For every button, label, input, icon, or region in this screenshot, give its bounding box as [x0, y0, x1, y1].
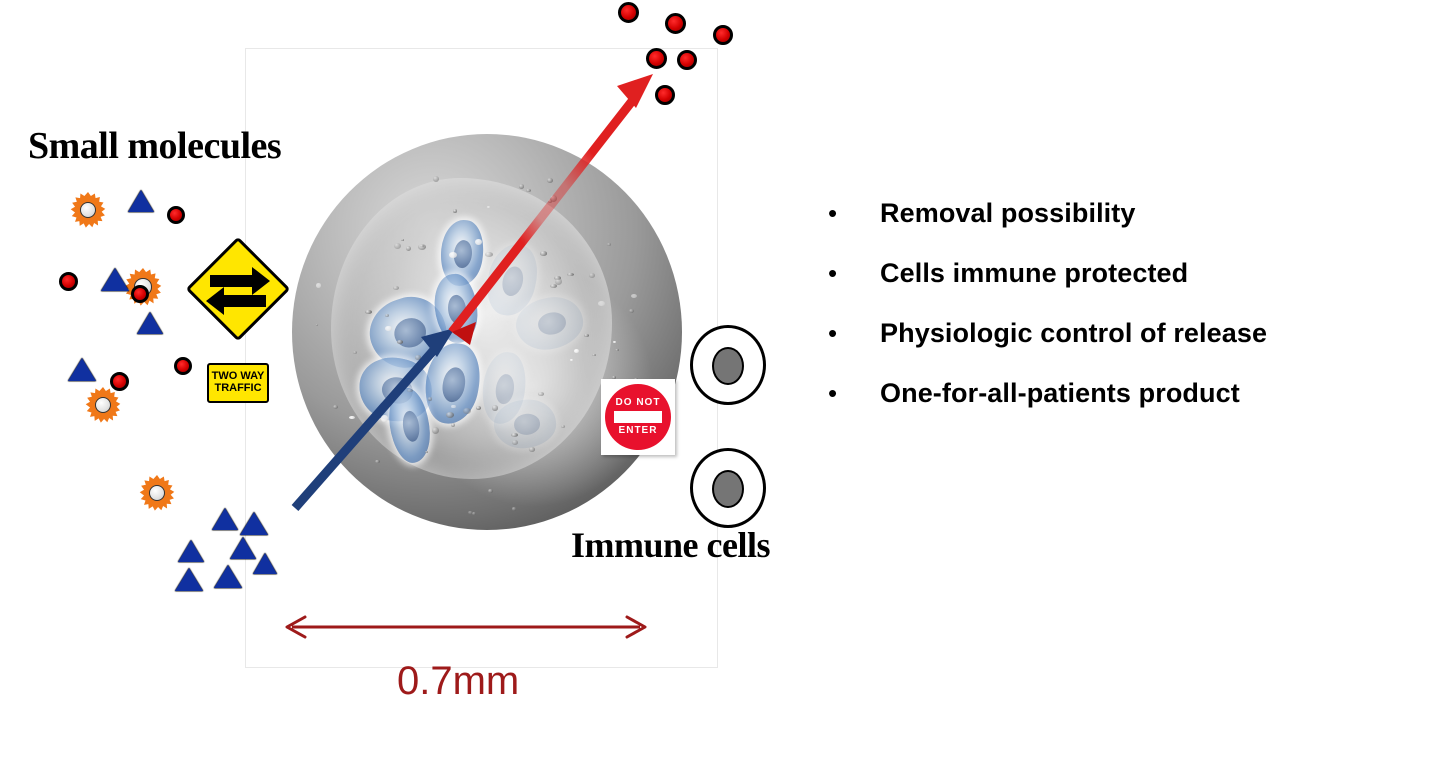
capsule-pore — [631, 294, 637, 298]
molecule-triangle-icon — [253, 553, 277, 574]
bullet-item: •Cells immune protected — [820, 258, 1400, 318]
immune-cell-nucleus — [712, 470, 744, 508]
immune-cell-nucleus — [712, 347, 744, 385]
capsule-pore — [540, 251, 547, 255]
do-not-enter-line-1: DO NOT — [616, 398, 661, 408]
cell-nucleus — [494, 373, 516, 405]
capsule-pore — [589, 273, 595, 278]
plaque-line-2: TRAFFIC — [214, 383, 261, 395]
capsule-pore — [365, 420, 370, 424]
capsule-pore — [453, 209, 458, 213]
capsule-pore — [550, 195, 557, 201]
molecule-triangle-icon — [68, 358, 96, 381]
capsule-pore — [574, 349, 579, 353]
molecule-dot-icon — [110, 372, 129, 391]
molecule-starburst-icon — [70, 192, 106, 228]
bullet-marker-icon: • — [820, 260, 880, 286]
capsule-pore — [375, 460, 380, 463]
molecule-starburst-icon — [139, 475, 175, 511]
capsule-pore — [492, 405, 499, 411]
molecule-triangle-icon — [240, 512, 268, 535]
capsule-pore — [333, 405, 338, 409]
capsule-pore — [567, 273, 574, 277]
capsule-pore — [449, 252, 457, 259]
capsule-pore — [555, 278, 562, 285]
capsule-pore — [547, 178, 553, 183]
molecule-triangle-icon — [178, 540, 204, 562]
molecule-dot-icon — [618, 2, 639, 23]
capsule-pore — [485, 252, 493, 257]
molecule-triangle-icon — [212, 508, 238, 530]
capsule-pore — [381, 415, 388, 421]
molecule-triangle-icon — [101, 268, 129, 291]
diagram-canvas: TWO WAY TRAFFIC DO NOT ENTER Small molec… — [0, 0, 1446, 769]
capsule-pore — [415, 355, 421, 360]
molecule-triangle-icon — [214, 565, 242, 588]
do-not-enter-circle: DO NOT ENTER — [605, 384, 671, 450]
bullet-label: Removal possibility — [880, 198, 1135, 229]
capsule-pore — [613, 341, 617, 343]
capsule-pore — [394, 243, 401, 249]
cell-nucleus — [441, 366, 469, 403]
immune-cell-upper — [690, 325, 766, 405]
capsule-pore — [433, 176, 439, 182]
molecule-dot-icon — [677, 50, 697, 70]
capsule-pore — [401, 239, 404, 241]
do-not-enter-sign: DO NOT ENTER — [601, 379, 675, 455]
capsule-pore — [598, 301, 605, 306]
capsule-pore — [397, 340, 403, 344]
capsule-pore — [316, 324, 319, 326]
capsule-pore — [349, 416, 355, 419]
capsule-pore — [446, 412, 454, 418]
benefits-bullet-list: •Removal possibility•Cells immune protec… — [820, 198, 1400, 438]
capsule-pore — [518, 238, 525, 243]
capsule-pore — [519, 184, 525, 189]
molecule-triangle-icon — [137, 312, 163, 334]
molecule-dot-icon — [655, 85, 675, 105]
molecule-triangle-icon — [128, 190, 154, 212]
two-way-arrows-icon — [186, 237, 290, 341]
capsule-pore — [529, 447, 535, 452]
capsule-pore — [584, 334, 589, 337]
cell-nucleus — [536, 310, 568, 337]
capsule-pore — [472, 512, 476, 515]
capsule-pore — [488, 489, 493, 493]
immune-cells-label: Immune cells — [571, 524, 770, 566]
molecule-dot-icon — [59, 272, 78, 291]
do-not-enter-bar — [614, 411, 662, 423]
capsule-pore — [629, 309, 634, 313]
capsule-pore — [538, 392, 543, 395]
molecule-dot-icon — [174, 357, 192, 375]
cell-nucleus — [500, 264, 527, 298]
capsule-pore — [428, 397, 432, 400]
bullet-label: Cells immune protected — [880, 258, 1188, 289]
cell-nucleus — [447, 294, 468, 325]
molecule-dot-icon — [665, 13, 686, 34]
bullet-item: •Removal possibility — [820, 198, 1400, 258]
do-not-enter-line-2: ENTER — [619, 426, 658, 436]
capsule-pore — [463, 408, 471, 414]
molecule-dot-icon — [713, 25, 733, 45]
scale-bar-label: 0.7mm — [397, 659, 519, 704]
immune-cell-lower — [690, 448, 766, 528]
cell-nucleus — [400, 410, 421, 444]
molecule-dot-icon — [646, 48, 667, 69]
molecule-triangle-icon — [175, 568, 203, 591]
capsule-pore — [353, 351, 357, 354]
bullet-item: •One-for-all-patients product — [820, 378, 1400, 438]
molecule-dot-icon — [131, 285, 149, 303]
molecule-dot-icon — [167, 206, 185, 224]
capsule-pore — [607, 243, 611, 245]
capsule-pore — [407, 389, 413, 392]
capsule-pore — [526, 189, 531, 192]
bullet-marker-icon: • — [820, 320, 880, 346]
microcapsule-sphere — [292, 134, 682, 530]
capsule-inner-core — [331, 178, 612, 479]
bullet-label: One-for-all-patients product — [880, 378, 1240, 409]
bullet-label: Physiologic control of release — [880, 318, 1267, 349]
capsule-pore — [369, 417, 374, 421]
capsule-pore — [615, 349, 619, 351]
bullet-item: •Physiologic control of release — [820, 318, 1400, 378]
two-way-traffic-sign — [186, 237, 290, 341]
capsule-pore — [512, 507, 516, 510]
cell-nucleus — [391, 314, 430, 351]
capsule-pore — [316, 283, 322, 288]
bullet-marker-icon: • — [820, 380, 880, 406]
molecule-starburst-icon — [85, 387, 121, 423]
small-molecules-label: Small molecules — [28, 124, 281, 168]
capsule-pore — [511, 433, 517, 437]
capsule-pore — [476, 406, 481, 410]
two-way-traffic-plaque: TWO WAY TRAFFIC — [207, 363, 269, 403]
bullet-marker-icon: • — [820, 200, 880, 226]
